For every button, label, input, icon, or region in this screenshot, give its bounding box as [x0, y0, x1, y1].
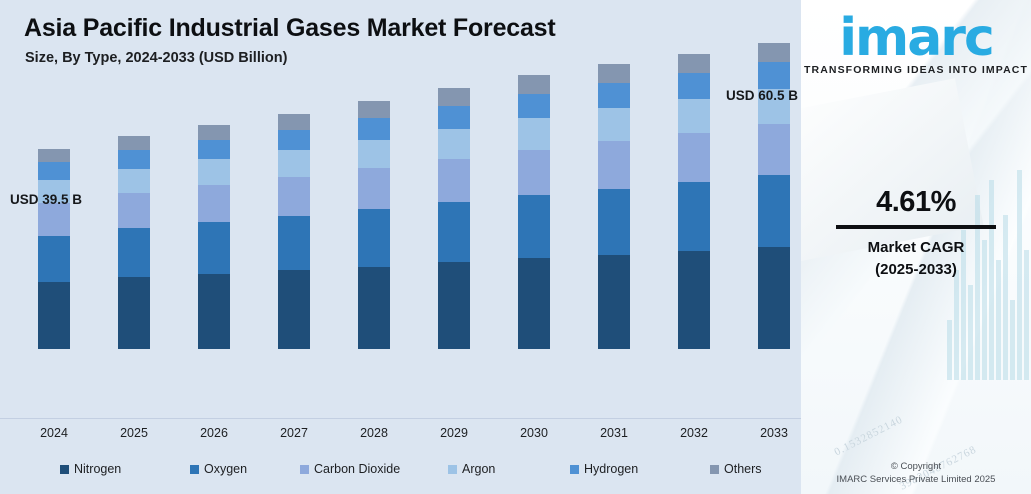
bar-segment-others[interactable] [358, 101, 390, 118]
x-tick-2032: 2032 [654, 426, 734, 440]
bar-segment-others[interactable] [118, 136, 150, 150]
bar-segment-others[interactable] [38, 149, 70, 162]
bar-segment-argon[interactable] [358, 140, 390, 168]
bar-segment-nitrogen[interactable] [278, 270, 310, 349]
bar-segment-carbon-dioxide[interactable] [38, 203, 70, 236]
end-value-label: USD 60.5 B [726, 88, 798, 103]
x-axis-labels: 2024202520262027202820292030203120322033 [0, 426, 801, 450]
bar-segment-hydrogen[interactable] [38, 162, 70, 180]
bar-segment-others[interactable] [278, 114, 310, 129]
bar-segment-hydrogen[interactable] [118, 150, 150, 169]
x-tick-2029: 2029 [414, 426, 494, 440]
x-tick-2031: 2031 [574, 426, 654, 440]
x-tick-2024: 2024 [14, 426, 94, 440]
bar-2027[interactable] [278, 114, 310, 349]
bar-segment-nitrogen[interactable] [758, 247, 790, 349]
bar-segment-oxygen[interactable] [278, 216, 310, 270]
bar-segment-oxygen[interactable] [758, 175, 790, 247]
bar-segment-carbon-dioxide[interactable] [598, 141, 630, 189]
decor-bar [968, 285, 973, 380]
bar-segment-others[interactable] [438, 88, 470, 106]
bar-segment-hydrogen[interactable] [758, 62, 790, 89]
chart-legend: NitrogenOxygenCarbon DioxideArgonHydroge… [0, 457, 801, 481]
bar-segment-nitrogen[interactable] [598, 255, 630, 349]
legend-item-carbon-dioxide[interactable]: Carbon Dioxide [300, 462, 400, 476]
bar-segment-nitrogen[interactable] [198, 274, 230, 349]
bar-2032[interactable] [678, 54, 710, 349]
bar-segment-carbon-dioxide[interactable] [758, 124, 790, 175]
bar-segment-oxygen[interactable] [38, 236, 70, 283]
imarc-logo-tagline: TRANSFORMING IDEAS INTO IMPACT [801, 64, 1031, 76]
bar-segment-carbon-dioxide[interactable] [678, 133, 710, 182]
bar-2031[interactable] [598, 64, 630, 349]
bar-segment-others[interactable] [678, 54, 710, 73]
legend-item-nitrogen[interactable]: Nitrogen [60, 462, 121, 476]
cagr-period: (2025-2033) [801, 259, 1031, 281]
bar-segment-hydrogen[interactable] [438, 106, 470, 129]
bar-segment-oxygen[interactable] [518, 195, 550, 258]
x-tick-2028: 2028 [334, 426, 414, 440]
bar-segment-others[interactable] [198, 125, 230, 140]
bar-segment-others[interactable] [518, 75, 550, 94]
bar-segment-argon[interactable] [678, 99, 710, 133]
brand-panel: 0.1532852140 3982048762768 imarc TRANSFO… [801, 0, 1031, 494]
bar-segment-argon[interactable] [278, 150, 310, 177]
bar-segment-nitrogen[interactable] [118, 277, 150, 349]
bar-segment-hydrogen[interactable] [278, 130, 310, 151]
legend-swatch-icon [570, 465, 579, 474]
bar-segment-argon[interactable] [198, 159, 230, 185]
bar-segment-hydrogen[interactable] [358, 118, 390, 140]
bar-segment-nitrogen[interactable] [678, 251, 710, 349]
bar-segment-carbon-dioxide[interactable] [278, 177, 310, 216]
bar-segment-oxygen[interactable] [198, 222, 230, 274]
bar-segment-oxygen[interactable] [438, 202, 470, 262]
bar-segment-argon[interactable] [518, 118, 550, 149]
cagr-divider [836, 225, 996, 229]
chart-panel: Asia Pacific Industrial Gases Market For… [0, 0, 801, 494]
cagr-block: 4.61% Market CAGR (2025-2033) [801, 186, 1031, 281]
bar-segment-nitrogen[interactable] [38, 282, 70, 349]
legend-swatch-icon [448, 465, 457, 474]
legend-label: Carbon Dioxide [314, 462, 400, 476]
legend-label: Hydrogen [584, 462, 638, 476]
bar-segment-carbon-dioxide[interactable] [118, 193, 150, 228]
bar-2025[interactable] [118, 136, 150, 349]
legend-item-oxygen[interactable]: Oxygen [190, 462, 247, 476]
bar-segment-others[interactable] [598, 64, 630, 83]
start-value-label: USD 39.5 B [10, 192, 82, 207]
decor-bar [947, 320, 952, 380]
bar-segment-oxygen[interactable] [598, 189, 630, 255]
imarc-logo-wordmark: imarc [801, 10, 1031, 66]
bar-segment-carbon-dioxide[interactable] [518, 150, 550, 196]
bar-segment-oxygen[interactable] [678, 182, 710, 251]
x-tick-2030: 2030 [494, 426, 574, 440]
bar-segment-hydrogen[interactable] [518, 94, 550, 118]
copyright-block: © Copyright IMARC Services Private Limit… [801, 460, 1031, 486]
bar-segment-nitrogen[interactable] [518, 258, 550, 349]
cagr-label: Market CAGR [801, 237, 1031, 259]
bar-segment-argon[interactable] [438, 129, 470, 159]
copyright-line-1: © Copyright [801, 460, 1031, 473]
bar-segment-oxygen[interactable] [118, 228, 150, 277]
decor-bar [1010, 300, 1015, 380]
legend-label: Argon [462, 462, 495, 476]
bar-segment-carbon-dioxide[interactable] [438, 159, 470, 202]
bar-segment-hydrogen[interactable] [598, 83, 630, 108]
x-tick-2025: 2025 [94, 426, 174, 440]
bar-segment-argon[interactable] [598, 108, 630, 141]
legend-item-argon[interactable]: Argon [448, 462, 495, 476]
imarc-logo: imarc TRANSFORMING IDEAS INTO IMPACT [801, 10, 1031, 76]
cagr-value: 4.61% [801, 186, 1031, 219]
bar-2024[interactable] [38, 149, 70, 349]
legend-label: Oxygen [204, 462, 247, 476]
bar-2029[interactable] [438, 88, 470, 349]
bar-2026[interactable] [198, 125, 230, 349]
bar-segment-nitrogen[interactable] [438, 262, 470, 348]
bar-segment-oxygen[interactable] [358, 209, 390, 266]
legend-swatch-icon [710, 465, 719, 474]
bar-2030[interactable] [518, 75, 550, 349]
legend-swatch-icon [60, 465, 69, 474]
legend-swatch-icon [300, 465, 309, 474]
plot-area: USD 39.5 B USD 60.5 B [0, 0, 801, 425]
legend-item-hydrogen[interactable]: Hydrogen [570, 462, 638, 476]
x-tick-2026: 2026 [174, 426, 254, 440]
x-tick-2027: 2027 [254, 426, 334, 440]
axis-baseline [0, 418, 801, 419]
bar-segment-carbon-dioxide[interactable] [198, 185, 230, 222]
copyright-line-2: IMARC Services Private Limited 2025 [801, 473, 1031, 486]
decor-bar [954, 270, 959, 380]
bar-2028[interactable] [358, 101, 390, 349]
bar-segment-carbon-dioxide[interactable] [358, 168, 390, 209]
bar-segment-hydrogen[interactable] [678, 73, 710, 99]
legend-item-others[interactable]: Others [710, 462, 762, 476]
legend-swatch-icon [190, 465, 199, 474]
legend-label: Others [724, 462, 762, 476]
bar-segment-others[interactable] [758, 43, 790, 62]
legend-label: Nitrogen [74, 462, 121, 476]
bar-segment-argon[interactable] [118, 169, 150, 193]
bar-segment-nitrogen[interactable] [358, 267, 390, 349]
bar-segment-hydrogen[interactable] [198, 140, 230, 160]
